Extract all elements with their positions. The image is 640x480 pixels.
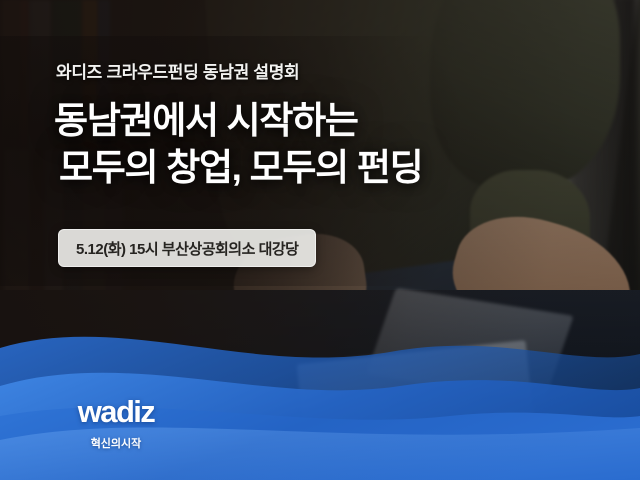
banner-content: 와디즈 크라우드펀딩 동남권 설명회 동남권에서 시작하는 모두의 창업, 모두… (0, 0, 640, 480)
promo-banner: 와디즈 크라우드펀딩 동남권 설명회 동남권에서 시작하는 모두의 창업, 모두… (0, 0, 640, 480)
event-date-venue-badge: 5.12(화) 15시 부산상공회의소 대강당 (58, 229, 316, 267)
banner-headline: 동남권에서 시작하는 모두의 창업, 모두의 펀딩 (54, 98, 422, 192)
wadiz-wordmark: wadiz (56, 396, 176, 427)
wadiz-logo: wadiz 혁신의시작 (56, 396, 176, 451)
headline-line-1: 동남권에서 시작하는 (54, 100, 358, 141)
banner-subtitle: 와디즈 크라우드펀딩 동남권 설명회 (56, 58, 299, 83)
headline-line-2: 모두의 창업, 모두의 펀딩 (54, 145, 422, 192)
wadiz-tagline: 혁신의시작 (56, 435, 176, 451)
